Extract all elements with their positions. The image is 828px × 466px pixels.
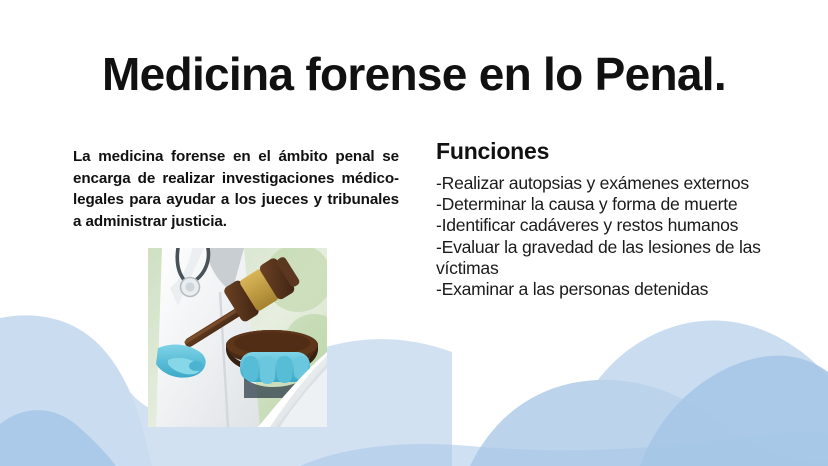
list-item: -Determinar la causa y forma de muerte [436, 194, 786, 215]
functions-list: -Realizar autopsias y exámenes externos … [436, 173, 786, 300]
list-item: -Examinar a las personas detenidas [436, 279, 786, 300]
functions-heading: Funciones [436, 137, 549, 165]
wave-left-light [0, 315, 152, 466]
list-item: -Identificar cadáveres y restos humanos [436, 215, 786, 236]
wave-right-light [560, 321, 828, 466]
presentation-slide: Medicina forense en lo Penal. La medicin… [0, 0, 828, 466]
list-item: -Evaluar la gravedad de las lesiones de … [436, 237, 786, 279]
lead-paragraph: La medicina forense en el ámbito penal s… [73, 146, 399, 232]
slide-title: Medicina forense en lo Penal. [0, 46, 828, 102]
wave-right-dark [640, 356, 828, 466]
forensic-gavel-photo [148, 248, 327, 427]
wave-right-mid [470, 380, 828, 466]
wave-bottom-dark-band [300, 433, 828, 466]
forensic-gavel-photo-graphic [148, 248, 327, 427]
list-item: -Realizar autopsias y exámenes externos [436, 173, 786, 194]
wave-left-dark [0, 410, 116, 466]
